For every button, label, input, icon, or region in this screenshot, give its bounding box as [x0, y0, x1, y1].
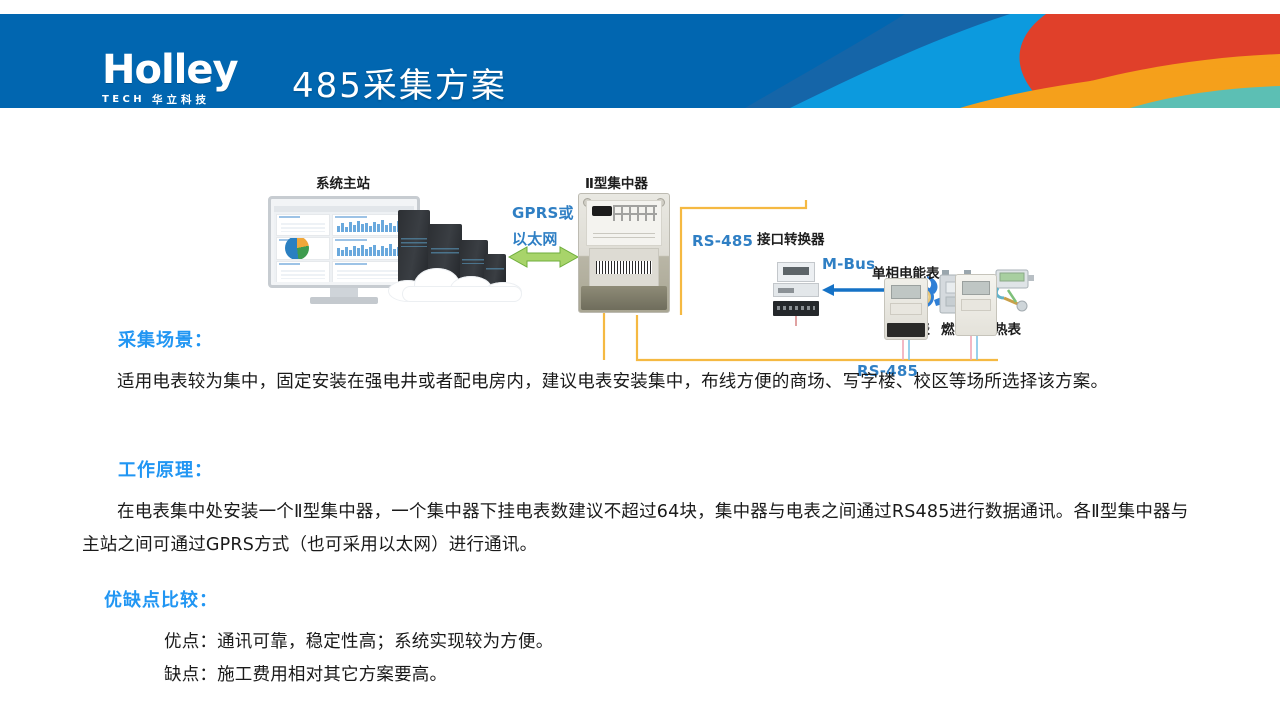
link-rs485-top: RS-485 — [692, 232, 753, 250]
logo-wordmark: Holley — [102, 50, 262, 90]
logo-tech-text: TECH — [102, 94, 145, 105]
section-heading-0: 采集场景： — [118, 326, 213, 352]
section-text-2-0: 优点：通讯可靠，稳定性高；系统实现较为方便。 — [164, 626, 1164, 659]
label-heat-meter: 热表 — [994, 318, 1021, 338]
interface-converter-icon — [773, 262, 819, 316]
label-concentrator: Ⅱ型集中器 — [585, 172, 648, 192]
section-heading-1: 工作原理： — [118, 456, 213, 482]
section-heading-2: 优缺点比较： — [104, 586, 218, 612]
label-interface-converter: 接口转换器 — [757, 228, 825, 248]
link-gprs-line2: 以太网 — [512, 228, 558, 249]
label-master-station: 系统主站 — [316, 172, 370, 192]
section-text-1-0: 在电表集中处安装一个Ⅱ型集中器，一个集中器下挂电表数建议不超过64块，集中器与电… — [82, 496, 1198, 562]
logo-subline: TECH 华立科技 — [102, 92, 262, 107]
section-text-2-1: 缺点：施工费用相对其它方案要高。 — [164, 659, 1164, 692]
concentrator-device-icon — [578, 193, 670, 313]
link-gprs-line1: GPRS或 — [512, 202, 574, 223]
page-title: 485采集方案 — [292, 58, 507, 107]
single-phase-meter-icon-2 — [955, 274, 997, 336]
cloud-icon — [388, 260, 538, 302]
header-banner: Holley TECH 华立科技 485采集方案 — [0, 14, 1280, 108]
single-phase-meter-icon-1 — [884, 278, 928, 340]
section-text-0-0: 适用电表较为集中，固定安装在强电井或者配电房内，建议电表安装集中，布线方便的商场… — [82, 366, 1198, 399]
holley-logo: Holley TECH 华立科技 — [102, 50, 262, 106]
slide-root: Holley TECH 华立科技 485采集方案 — [0, 0, 1280, 720]
link-mbus: M-Bus — [822, 255, 875, 273]
logo-cn-text: 华立科技 — [152, 92, 210, 107]
